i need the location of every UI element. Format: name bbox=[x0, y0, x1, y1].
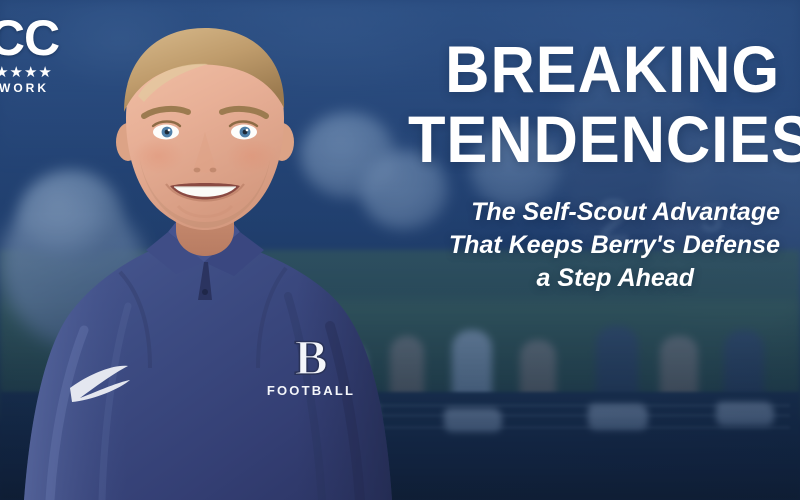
headline-line-2: TENDENCIES bbox=[408, 104, 780, 174]
subheadline-line-2: That Keeps Berry's Defense bbox=[449, 231, 780, 259]
polo-monogram: B bbox=[294, 329, 327, 385]
title-card-graphic: 2 5 CC ★★★★ WORK bbox=[0, 0, 800, 500]
subheadline-line-3: a Step Ahead bbox=[380, 262, 780, 295]
polo-wordmark: FOOTBALL bbox=[267, 383, 355, 398]
title-text-block: BREAKING TENDENCIES The Self-Scout Advan… bbox=[380, 34, 780, 295]
coach-portrait: B FOOTBALL bbox=[0, 0, 400, 500]
headline-line-1: BREAKING bbox=[408, 34, 780, 104]
coach-head bbox=[116, 28, 294, 230]
subheadline: The Self-Scout Advantage That Keeps Berr… bbox=[380, 196, 780, 295]
subheadline-line-1: The Self-Scout Advantage bbox=[471, 198, 780, 226]
